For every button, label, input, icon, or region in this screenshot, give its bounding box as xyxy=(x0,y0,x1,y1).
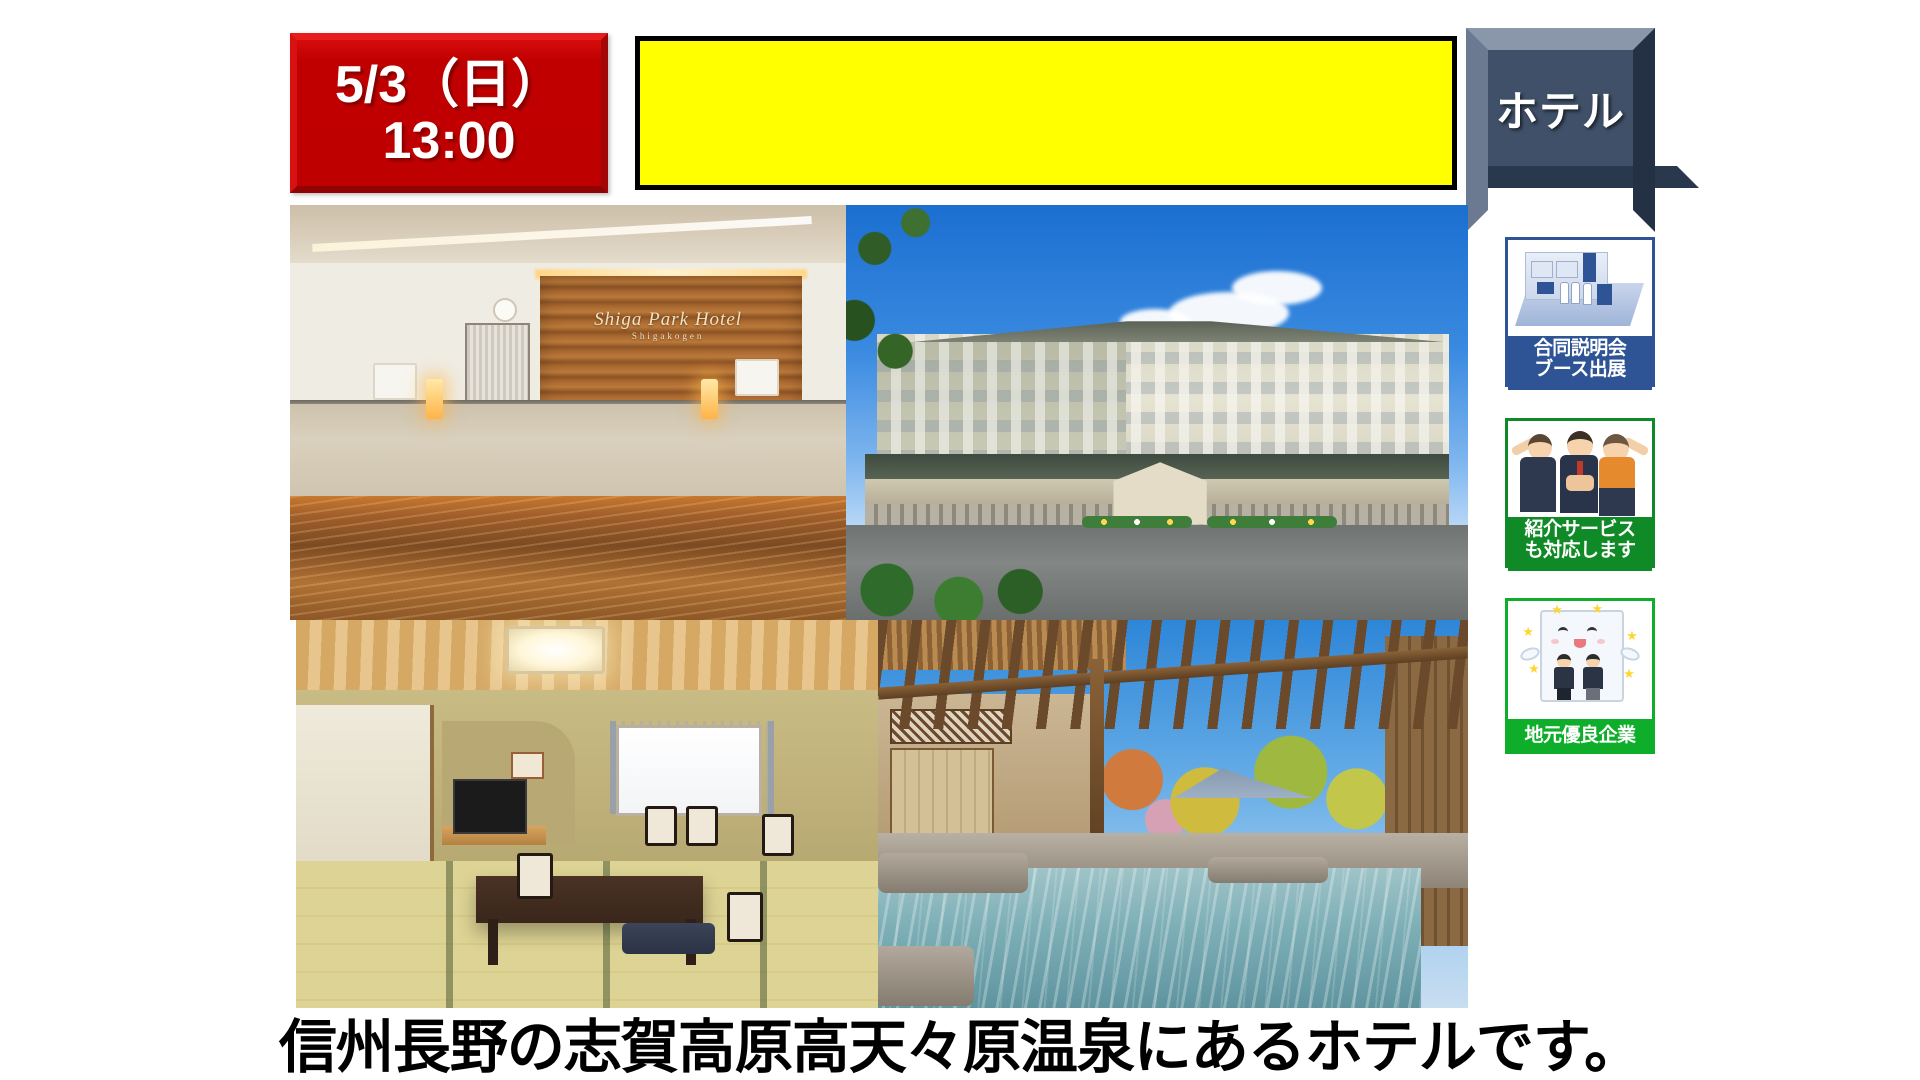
referral-skirt-right xyxy=(1599,488,1635,516)
badge-local-excellent-company: ★ ★ ★ ★ ★ ★ 地元優良企業 xyxy=(1505,598,1655,754)
room-legless-chair-right xyxy=(727,892,763,942)
badge-caption-line-2: も対応します xyxy=(1508,540,1652,561)
booth-poster-2 xyxy=(1556,261,1578,278)
certificate-cheek-right xyxy=(1597,639,1605,644)
onsen-beam-post xyxy=(1090,659,1104,853)
certificate-eye-left xyxy=(1558,627,1568,636)
booth-pillar xyxy=(1583,253,1596,282)
sparkle-6: ★ xyxy=(1623,667,1635,680)
photo-japanese-guest-room xyxy=(296,620,878,1008)
person-head xyxy=(1557,654,1571,668)
room-legless-chair-left xyxy=(517,853,553,899)
booth-poster-1 xyxy=(1531,261,1553,278)
booth-visitor-3 xyxy=(1583,283,1592,305)
photo-hotel-exterior xyxy=(846,205,1468,620)
onsen-foreground-stone-2 xyxy=(878,853,1028,893)
onsen-foreground-stone-1 xyxy=(878,946,974,1006)
lobby-counter-base-texture xyxy=(290,496,846,621)
room-floor-cushion xyxy=(622,923,715,954)
badge-caption-line-2: ブース出展 xyxy=(1508,359,1652,380)
date-time-badge: 5/3（日） 13:00 xyxy=(290,33,608,193)
sparkle-4: ★ xyxy=(1626,629,1638,642)
lobby-scene: Shiga Park Hotel Shigakogen xyxy=(290,205,846,620)
slide-root: 5/3（日） 13:00 ホテル Shiga Park Hotel Shigak… xyxy=(0,0,1920,1080)
exterior-foreground-tree xyxy=(846,205,970,454)
booth-table xyxy=(1537,282,1554,294)
person-body xyxy=(1583,667,1603,689)
lobby-lamp-left xyxy=(426,379,443,419)
certificate-person-female xyxy=(1583,654,1603,700)
three-people-handshake-icon xyxy=(1508,421,1652,517)
exterior-foreground-shrubs xyxy=(846,545,1051,620)
badge-caption-booth: 合同説明会 ブース出展 xyxy=(1508,336,1652,390)
exterior-flower-bed-2 xyxy=(1207,516,1337,528)
referral-handshake xyxy=(1566,475,1594,491)
photo-open-air-onsen xyxy=(878,620,1468,1008)
certificate-person-male xyxy=(1554,654,1574,700)
certificate-cheek-left xyxy=(1551,639,1559,644)
sparkle-1: ★ xyxy=(1551,603,1563,616)
room-scene xyxy=(296,620,878,1008)
room-low-table xyxy=(476,876,703,923)
room-chair-window-1 xyxy=(645,806,677,846)
bevel-bottom xyxy=(1466,166,1699,188)
exterior-scene xyxy=(846,205,1468,620)
date-line: 5/3（日） xyxy=(335,57,563,113)
person-head xyxy=(1586,654,1600,668)
room-wall-picture-frame xyxy=(511,752,544,779)
title-plate xyxy=(637,38,1455,188)
badge-caption-line-1: 地元優良企業 xyxy=(1508,721,1652,751)
person-body xyxy=(1554,667,1574,689)
room-chair-window-2 xyxy=(686,806,718,846)
badge-caption-local: 地元優良企業 xyxy=(1508,719,1652,751)
certificate-eye-right xyxy=(1587,627,1597,636)
lobby-hotel-sign: Shiga Park Hotel Shigakogen xyxy=(568,309,768,341)
booth-visitor-1 xyxy=(1560,282,1569,304)
lobby-monitor-right xyxy=(735,359,779,396)
category-label: ホテル xyxy=(1496,78,1625,139)
bevel-right xyxy=(1633,28,1655,232)
lobby-ceiling xyxy=(290,205,846,271)
photo-hotel-lobby-reception: Shiga Park Hotel Shigakogen xyxy=(290,205,846,620)
lobby-monitor-left xyxy=(373,363,417,400)
onsen-spout-stone xyxy=(1208,857,1328,883)
exhibition-booth-icon xyxy=(1508,240,1652,336)
room-ceiling-light xyxy=(506,626,605,675)
category-button-hotel[interactable]: ホテル xyxy=(1466,28,1655,188)
time-line: 13:00 xyxy=(383,113,516,169)
lobby-wood-feature-wall xyxy=(540,276,801,421)
badge-referral-service: 紹介サービス も対応します xyxy=(1505,418,1655,568)
sparkle-2: ★ xyxy=(1592,602,1604,615)
room-television xyxy=(453,779,527,833)
badge-joint-briefing-booth: 合同説明会 ブース出展 xyxy=(1505,237,1655,387)
sparkle-5: ★ xyxy=(1528,662,1540,675)
title-text xyxy=(640,41,1452,185)
sparkle-3: ★ xyxy=(1522,625,1534,638)
person-legs xyxy=(1586,688,1600,700)
room-chair-window-3 xyxy=(762,814,794,856)
room-table-leg-left xyxy=(488,919,498,965)
onsen-scene xyxy=(878,620,1468,1008)
exterior-flower-bed-1 xyxy=(1082,516,1192,528)
booth-banner xyxy=(1597,284,1611,305)
booth-visitor-2 xyxy=(1571,282,1580,304)
bevel-top xyxy=(1466,28,1655,50)
person-legs xyxy=(1557,688,1571,700)
badge-caption-line-1: 紹介サービス xyxy=(1508,519,1652,540)
room-window xyxy=(616,725,762,816)
referral-body-left xyxy=(1520,457,1556,512)
bevel-left xyxy=(1466,28,1488,232)
room-sliding-closet-doors xyxy=(296,705,434,860)
lobby-lamp-right xyxy=(701,379,718,419)
bottom-caption: 信州長野の志賀高原高天々原温泉にあるホテルです。 xyxy=(0,1000,1920,1080)
certificate-mouth xyxy=(1574,639,1586,648)
badge-caption-referral: 紹介サービス も対応します xyxy=(1508,517,1652,571)
badge-caption-line-1: 合同説明会 xyxy=(1508,338,1652,359)
certificate-character-icon: ★ ★ ★ ★ ★ ★ xyxy=(1508,601,1652,719)
